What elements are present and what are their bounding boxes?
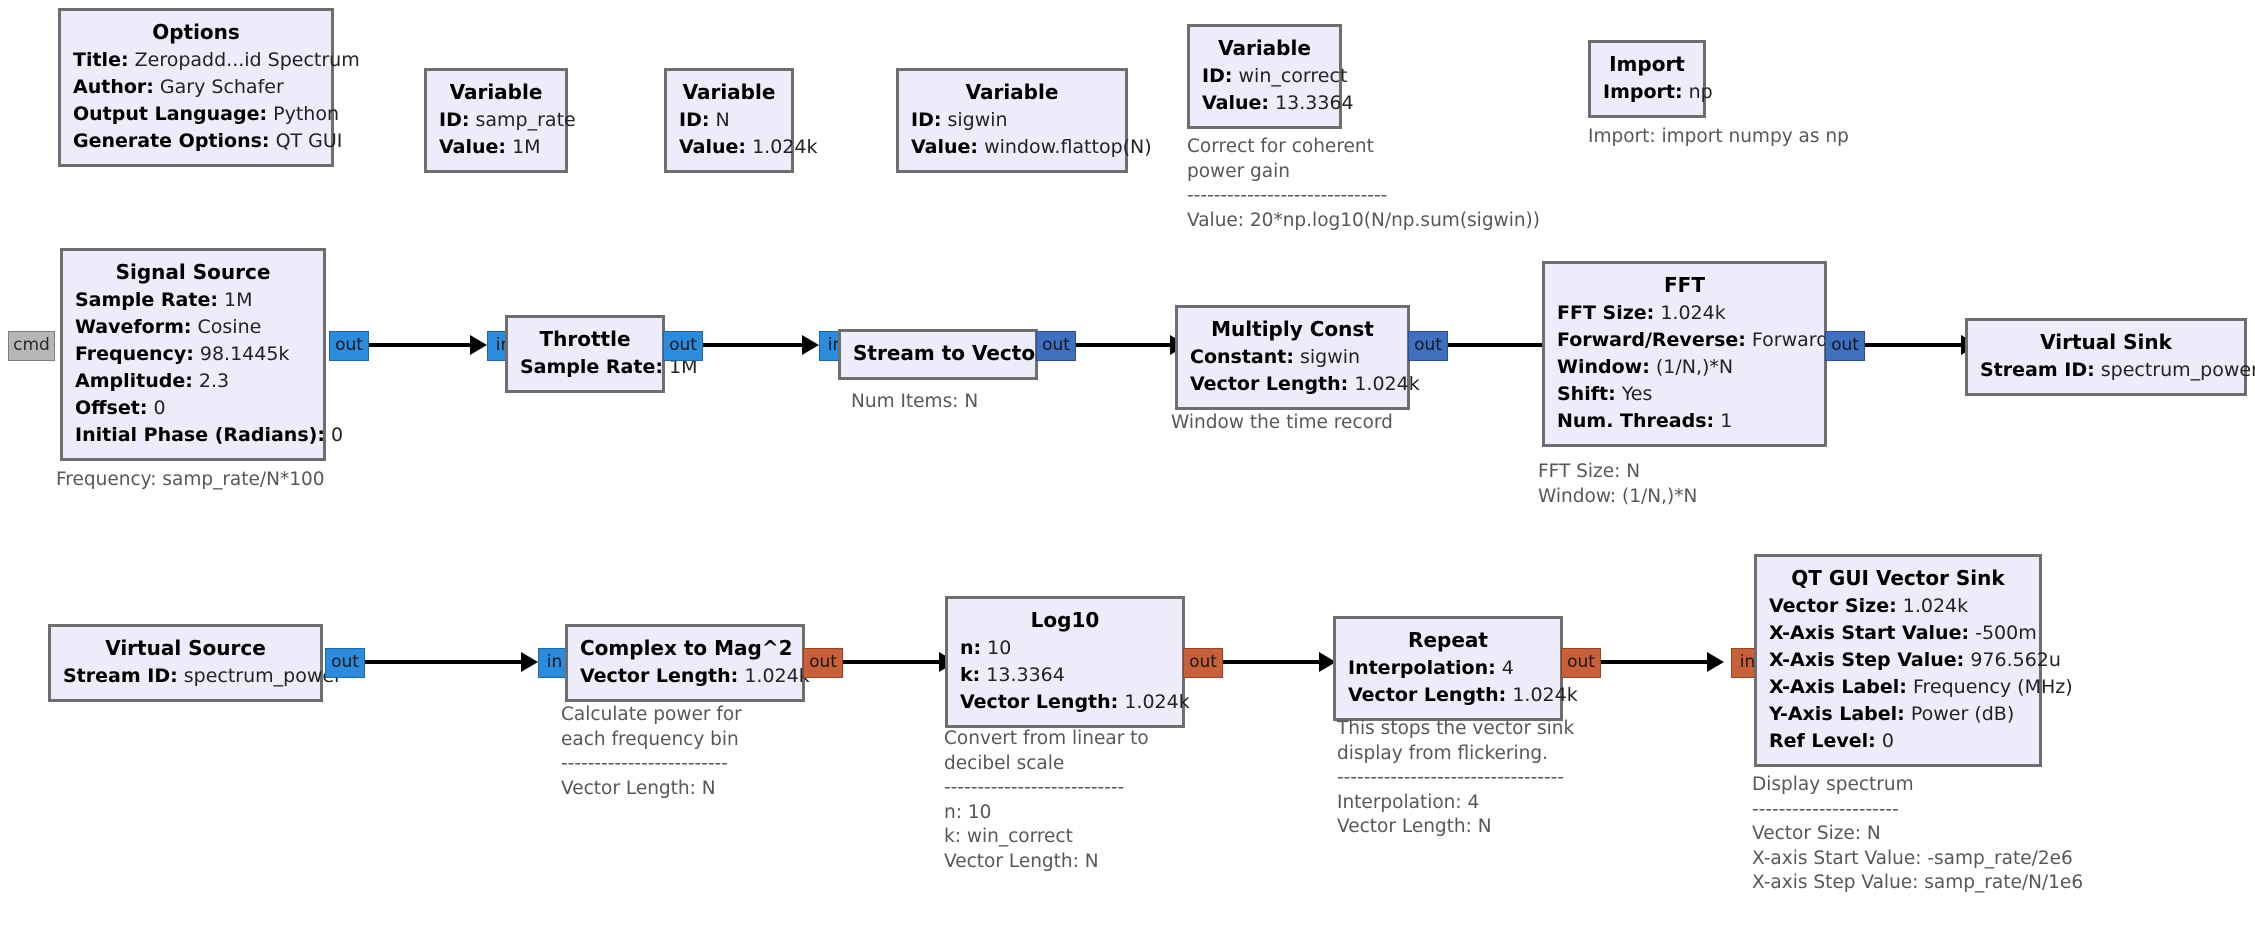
param-key: X-Axis Label: <box>1769 676 1907 698</box>
param-key: Stream ID: <box>1980 359 2095 381</box>
block-title: Variable <box>1202 34 1327 63</box>
param-value: 1 <box>1720 410 1732 432</box>
comment-qt-gui-vector-sink: Display spectrum ---------------------- … <box>1752 773 2083 896</box>
param-value: 1.024k <box>1354 373 1419 395</box>
param-row: Y-Axis Label: Power (dB) <box>1769 701 2027 728</box>
connection-arrow <box>521 652 538 672</box>
param-key: X-Axis Start Value: <box>1769 622 1969 644</box>
param-row: Offset: 0 <box>75 395 311 422</box>
param-key: Vector Length: <box>1348 684 1506 706</box>
param-row: Amplitude: 2.3 <box>75 368 311 395</box>
param-key: Value: <box>679 136 746 158</box>
param-row: ID: N <box>679 107 779 134</box>
param-key: Import: <box>1603 81 1683 103</box>
param-value: 10 <box>987 637 1011 659</box>
param-value: Gary Schafer <box>160 76 284 98</box>
param-value: Forward <box>1752 329 1828 351</box>
param-row: Value: 13.3364 <box>1202 90 1327 117</box>
param-key: Vector Length: <box>580 665 738 687</box>
connection-arrow <box>470 335 487 355</box>
param-value: Frequency (MHz) <box>1913 676 2073 698</box>
param-row: Value: 1M <box>439 134 553 161</box>
param-value: sigwin <box>948 109 1008 131</box>
param-value: spectrum_power <box>2101 359 2255 381</box>
param-row: ID: sigwin <box>911 107 1113 134</box>
param-value: 0 <box>1882 730 1894 752</box>
param-value: N <box>716 109 730 131</box>
block-options[interactable]: Options Title: Zeropadd...id Spectrum Au… <box>58 8 334 167</box>
param-row: Author: Gary Schafer <box>73 74 319 101</box>
param-value: Python <box>273 103 339 125</box>
param-row: FFT Size: 1.024k <box>1557 300 1812 327</box>
param-key: k: <box>960 664 980 686</box>
param-row: Initial Phase (Radians): 0 <box>75 422 311 449</box>
connection-wire[interactable] <box>1076 343 1174 347</box>
param-value: win_correct <box>1239 65 1348 87</box>
connection-arrow <box>802 335 819 355</box>
param-key: Window: <box>1557 356 1650 378</box>
block-title: Multiply Const <box>1190 315 1395 344</box>
param-row: Constant: sigwin <box>1190 344 1395 371</box>
param-key: Generate Options: <box>73 130 270 152</box>
param-row: Output Language: Python <box>73 101 319 128</box>
block-virtual-sink[interactable]: Virtual Sink Stream ID: spectrum_power <box>1965 318 2247 396</box>
param-row: Vector Length: 1.024k <box>960 689 1170 716</box>
param-value: window.flattop(N) <box>984 136 1152 158</box>
param-value: 976.562u <box>1970 649 2061 671</box>
comment-complex-to-mag2: Calculate power for each frequency bin -… <box>561 703 742 801</box>
param-key: n: <box>960 637 981 659</box>
connection-wire[interactable] <box>369 343 474 347</box>
param-value: 13.3364 <box>986 664 1065 686</box>
param-key: Constant: <box>1190 346 1294 368</box>
param-value: 1.024k <box>1660 302 1725 324</box>
param-row: Vector Length: 1.024k <box>1348 682 1548 709</box>
block-title: Variable <box>439 78 553 107</box>
block-log10[interactable]: Log10 n: 10 k: 13.3364 Vector Length: 1.… <box>945 596 1185 728</box>
block-variable-n[interactable]: Variable ID: N Value: 1.024k <box>664 68 794 173</box>
param-key: Interpolation: <box>1348 657 1496 679</box>
block-title: Throttle <box>520 325 650 354</box>
param-row: Generate Options: QT GUI <box>73 128 319 155</box>
comment-win-correct: Correct for coherent power gain --------… <box>1187 135 1540 233</box>
param-row: Interpolation: 4 <box>1348 655 1548 682</box>
param-value: 98.1445k <box>200 343 290 365</box>
block-title: Log10 <box>960 606 1170 635</box>
param-key: Vector Length: <box>1190 373 1348 395</box>
param-row: X-Axis Start Value: -500m <box>1769 620 2027 647</box>
connection-wire[interactable] <box>1448 343 1548 347</box>
port-repeat-out[interactable]: out <box>1561 648 1601 678</box>
param-row: Frequency: 98.1445k <box>75 341 311 368</box>
param-value: samp_rate <box>476 109 576 131</box>
param-value: (1/N,)*N <box>1656 356 1733 378</box>
connection-wire[interactable] <box>1223 660 1323 664</box>
param-value: 1M <box>224 289 252 311</box>
block-multiply-const[interactable]: Multiply Const Constant: sigwin Vector L… <box>1175 305 1410 410</box>
param-row: ID: win_correct <box>1202 63 1327 90</box>
param-row: n: 10 <box>960 635 1170 662</box>
param-value: 0 <box>153 397 165 419</box>
param-key: Vector Length: <box>960 691 1118 713</box>
port-fft-out[interactable]: out <box>1825 331 1865 361</box>
param-row: Stream ID: spectrum_power <box>1980 357 2232 384</box>
block-repeat[interactable]: Repeat Interpolation: 4 Vector Length: 1… <box>1333 616 1563 721</box>
block-signal-source[interactable]: Signal Source Sample Rate: 1M Waveform: … <box>60 248 326 461</box>
block-title: Variable <box>679 78 779 107</box>
param-value: Power (dB) <box>1911 703 2014 725</box>
param-key: Title: <box>73 49 129 71</box>
param-value: 1.024k <box>1512 684 1577 706</box>
block-title: Signal Source <box>75 258 311 287</box>
param-row: Sample Rate: 1M <box>520 354 650 381</box>
param-value: Yes <box>1622 383 1653 405</box>
param-value: QT GUI <box>276 130 343 152</box>
param-row: Window: (1/N,)*N <box>1557 354 1812 381</box>
param-key: Num. Threads: <box>1557 410 1714 432</box>
block-import-np[interactable]: Import Import: np <box>1588 40 1706 118</box>
param-value: 1.024k <box>1124 691 1189 713</box>
param-key: Y-Axis Label: <box>1769 703 1905 725</box>
block-title: QT GUI Vector Sink <box>1769 564 2027 593</box>
param-row: Import: np <box>1603 79 1691 106</box>
block-title: Options <box>73 18 319 47</box>
comment-stream-to-vector: Num Items: N <box>851 390 978 415</box>
connection-wire[interactable] <box>843 660 943 664</box>
param-key: Frequency: <box>75 343 194 365</box>
param-row: Value: window.flattop(N) <box>911 134 1113 161</box>
param-row: Title: Zeropadd...id Spectrum <box>73 47 319 74</box>
block-title: Virtual Source <box>63 634 308 663</box>
param-row: Sample Rate: 1M <box>75 287 311 314</box>
param-value: 13.3364 <box>1275 92 1354 114</box>
connection-wire[interactable] <box>365 660 525 664</box>
param-row: Vector Length: 1.024k <box>1190 371 1395 398</box>
block-qt-gui-vector-sink[interactable]: QT GUI Vector Sink Vector Size: 1.024k X… <box>1754 554 2042 767</box>
param-row: X-Axis Label: Frequency (MHz) <box>1769 674 2027 701</box>
block-title: Variable <box>911 78 1113 107</box>
param-row: Num. Threads: 1 <box>1557 408 1812 435</box>
block-title: Repeat <box>1348 626 1548 655</box>
param-row: Ref Level: 0 <box>1769 728 2027 755</box>
block-stream-to-vector[interactable]: Stream to Vector <box>838 329 1038 380</box>
param-row: X-Axis Step Value: 976.562u <box>1769 647 2027 674</box>
param-key: Vector Size: <box>1769 595 1897 617</box>
comment-signal-source: Frequency: samp_rate/N*100 <box>56 468 325 493</box>
param-key: Stream ID: <box>63 665 178 687</box>
port-log10-out[interactable]: out <box>1183 648 1223 678</box>
port-complex-to-mag2-out[interactable]: out <box>803 648 843 678</box>
param-value: Zeropadd...id Spectrum <box>135 49 360 71</box>
block-throttle[interactable]: Throttle Sample Rate: 1M <box>505 315 665 393</box>
param-value: 1M <box>512 136 540 158</box>
port-signal-source-cmd[interactable]: cmd <box>8 331 55 361</box>
param-value: 2.3 <box>199 370 229 392</box>
param-key: Output Language: <box>73 103 267 125</box>
param-value: spectrum_power <box>184 665 342 687</box>
block-title: Stream to Vector <box>853 339 1023 368</box>
comment-import-np: Import: import numpy as np <box>1588 125 1849 150</box>
port-virtual-source-out[interactable]: out <box>325 648 365 678</box>
block-variable-samp-rate[interactable]: Variable ID: samp_rate Value: 1M <box>424 68 568 173</box>
connection-wire[interactable] <box>1601 660 1711 664</box>
comment-repeat: This stops the vector sink display from … <box>1337 717 1574 840</box>
param-key: Value: <box>911 136 978 158</box>
param-key: Offset: <box>75 397 147 419</box>
connection-arrow <box>1707 652 1724 672</box>
param-key: Forward/Reverse: <box>1557 329 1746 351</box>
flowgraph-canvas[interactable]: Options Title: Zeropadd...id Spectrum Au… <box>0 0 2255 928</box>
param-value: 4 <box>1502 657 1514 679</box>
param-key: Shift: <box>1557 383 1616 405</box>
param-key: Value: <box>1202 92 1269 114</box>
param-value: sigwin <box>1300 346 1360 368</box>
connection-wire[interactable] <box>1865 343 1965 347</box>
param-key: Amplitude: <box>75 370 193 392</box>
param-row: Value: 1.024k <box>679 134 779 161</box>
port-stream-to-vector-out[interactable]: out <box>1036 331 1076 361</box>
block-variable-win-correct[interactable]: Variable ID: win_correct Value: 13.3364 <box>1187 24 1342 129</box>
block-virtual-source[interactable]: Virtual Source Stream ID: spectrum_power <box>48 624 323 702</box>
param-value: 1.024k <box>744 665 809 687</box>
param-key: X-Axis Step Value: <box>1769 649 1964 671</box>
param-key: ID: <box>911 109 941 131</box>
comment-multiply-const: Window the time record <box>1171 411 1393 436</box>
param-row: Vector Length: 1.024k <box>580 663 790 690</box>
block-title: FFT <box>1557 271 1812 300</box>
param-key: Sample Rate: <box>75 289 218 311</box>
param-value: 1.024k <box>752 136 817 158</box>
param-key: Ref Level: <box>1769 730 1876 752</box>
param-row: ID: samp_rate <box>439 107 553 134</box>
param-key: Value: <box>439 136 506 158</box>
port-throttle-out[interactable]: out <box>663 331 703 361</box>
param-value: np <box>1689 81 1713 103</box>
port-multiply-const-out[interactable]: out <box>1408 331 1448 361</box>
param-value: 1.024k <box>1903 595 1968 617</box>
block-variable-sigwin[interactable]: Variable ID: sigwin Value: window.flatto… <box>896 68 1128 173</box>
param-row: Vector Size: 1.024k <box>1769 593 2027 620</box>
port-signal-source-out[interactable]: out <box>329 331 369 361</box>
param-value: -500m <box>1975 622 2037 644</box>
param-key: ID: <box>679 109 709 131</box>
param-key: Initial Phase (Radians): <box>75 424 325 446</box>
block-title: Import <box>1603 50 1691 79</box>
param-value: Cosine <box>198 316 262 338</box>
param-key: FFT Size: <box>1557 302 1654 324</box>
param-row: Stream ID: spectrum_power <box>63 663 308 690</box>
block-title: Virtual Sink <box>1980 328 2232 357</box>
comment-log10: Convert from linear to decibel scale ---… <box>944 727 1149 875</box>
comment-fft: FFT Size: N Window: (1/N,)*N <box>1538 460 1697 509</box>
param-key: Sample Rate: <box>520 356 663 378</box>
param-key: ID: <box>439 109 469 131</box>
block-title: Complex to Mag^2 <box>580 634 790 663</box>
block-fft[interactable]: FFT FFT Size: 1.024k Forward/Reverse: Fo… <box>1542 261 1827 447</box>
param-row: k: 13.3364 <box>960 662 1170 689</box>
param-row: Waveform: Cosine <box>75 314 311 341</box>
connection-wire[interactable] <box>703 343 806 347</box>
param-key: ID: <box>1202 65 1232 87</box>
param-row: Shift: Yes <box>1557 381 1812 408</box>
param-row: Forward/Reverse: Forward <box>1557 327 1812 354</box>
param-key: Author: <box>73 76 154 98</box>
param-key: Waveform: <box>75 316 191 338</box>
param-value: 0 <box>331 424 343 446</box>
block-complex-to-mag2[interactable]: Complex to Mag^2 Vector Length: 1.024k <box>565 624 805 702</box>
